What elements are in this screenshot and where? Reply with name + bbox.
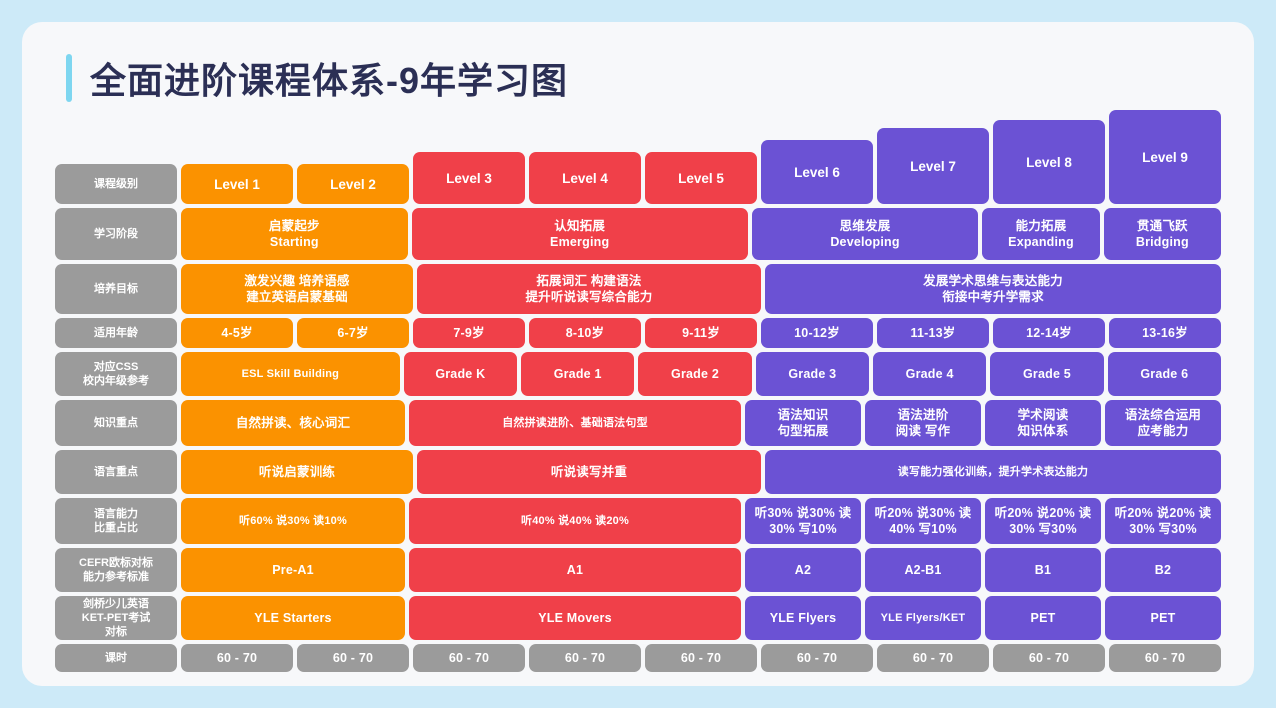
row-label-line: 对标 [105, 625, 127, 639]
row-label-level-header: 课程级别 [55, 164, 177, 204]
cell-knowledge-5[interactable]: 学术阅读知识体系 [985, 400, 1101, 446]
cell-goal-1[interactable]: 激发兴趣 培养语感建立英语启蒙基础 [181, 264, 413, 314]
cell-skill-ratio-3[interactable]: 听30% 说30% 读30% 写10% [745, 498, 861, 544]
cell-line-1: YLE Starters [254, 610, 331, 626]
cell-line-1: 12-14岁 [1026, 325, 1072, 341]
row-label-line: 学习阶段 [94, 227, 138, 241]
cell-line-1: 9-11岁 [682, 325, 720, 341]
cell-line-1: 认知拓展 [554, 218, 605, 234]
cell-line-1: YLE Flyers/KET [881, 611, 966, 625]
cell-line-2: 阅读 写作 [896, 423, 950, 439]
cell-cefr-3[interactable]: A2 [745, 548, 861, 592]
cell-line-1: 60 - 70 [1145, 650, 1185, 666]
cell-skill-ratio-1[interactable]: 听60% 说30% 读10% [181, 498, 405, 544]
row-label-line: 语言能力 [94, 507, 138, 521]
cell-line-1: A2-B1 [904, 562, 941, 578]
cell-line-1: 60 - 70 [681, 650, 721, 666]
cell-knowledge-6[interactable]: 语法综合运用应考能力 [1105, 400, 1221, 446]
cell-stage-5[interactable]: 贯通飞跃Bridging [1104, 208, 1221, 260]
cell-line-2: 30% 写30% [1129, 521, 1197, 537]
cell-exam-5[interactable]: PET [985, 596, 1101, 640]
row-label-language: 语言重点 [55, 450, 177, 494]
level-header-1[interactable]: Level 1 [181, 164, 293, 204]
row-label-line: CEFR欧标对标 [79, 556, 153, 570]
cell-line-1: 自然拼读进阶、基础语法句型 [502, 416, 648, 430]
cell-knowledge-1[interactable]: 自然拼读、核心词汇 [181, 400, 405, 446]
cell-line-1: 学术阅读 [1018, 407, 1069, 423]
cell-stage-2[interactable]: 认知拓展Emerging [412, 208, 748, 260]
cell-line-1: 听40% 说40% 读20% [521, 514, 629, 528]
cell-grade-2[interactable]: Grade K [404, 352, 517, 396]
cell-line-2: 应考能力 [1138, 423, 1189, 439]
level-header-label: Level 2 [330, 177, 376, 192]
row-label-line: 校内年级参考 [83, 374, 149, 388]
level-header-3[interactable]: Level 3 [413, 152, 525, 204]
table-row-hours: 课时60 - 7060 - 7060 - 7060 - 7060 - 7060 … [55, 644, 1221, 672]
level-header-2[interactable]: Level 2 [297, 164, 409, 204]
cell-age-4[interactable]: 8-10岁 [529, 318, 641, 348]
cell-skill-ratio-6[interactable]: 听20% 说20% 读30% 写30% [1105, 498, 1221, 544]
table-row-age: 适用年龄4-5岁6-7岁7-9岁8-10岁9-11岁10-12岁11-13岁12… [55, 318, 1221, 348]
cell-age-5[interactable]: 9-11岁 [645, 318, 757, 348]
curriculum-table: 课程级别 Level 1Level 2Level 3Level 4Level 5… [55, 110, 1221, 676]
table-row-goal: 培养目标激发兴趣 培养语感建立英语启蒙基础拓展词汇 构建语法提升听说读写综合能力… [55, 264, 1221, 314]
cell-goal-3[interactable]: 发展学术思维与表达能力衔接中考升学需求 [765, 264, 1221, 314]
cell-line-1: 4-5岁 [221, 325, 252, 341]
cell-line-2: 建立英语启蒙基础 [246, 289, 348, 305]
cell-line-1: A1 [567, 562, 583, 578]
table-row-exam: 剑桥少儿英语KET-PET考试对标YLE StartersYLE MoversY… [55, 596, 1221, 640]
cell-cefr-1[interactable]: Pre-A1 [181, 548, 405, 592]
cell-line-1: 启蒙起步 [269, 218, 320, 234]
row-label-skill-ratio: 语言能力比重占比 [55, 498, 177, 544]
cell-line-1: 能力拓展 [1016, 218, 1067, 234]
cell-line-1: Pre-A1 [272, 562, 314, 578]
row-label-age: 适用年龄 [55, 318, 177, 348]
cell-stage-3[interactable]: 思维发展Developing [752, 208, 979, 260]
cell-hours-4[interactable]: 60 - 70 [529, 644, 641, 672]
cell-line-1: 13-16岁 [1142, 325, 1188, 341]
cell-line-1: 激发兴趣 培养语感 [244, 273, 349, 289]
cell-age-2[interactable]: 6-7岁 [297, 318, 409, 348]
level-header-9[interactable]: Level 9 [1109, 110, 1221, 204]
row-label-line: 比重占比 [94, 521, 138, 535]
row-label-goal: 培养目标 [55, 264, 177, 314]
cell-line-2: Developing [830, 234, 899, 250]
row-label-line: 语言重点 [94, 465, 138, 479]
cell-line-1: YLE Flyers [770, 610, 837, 626]
cell-hours-5[interactable]: 60 - 70 [645, 644, 757, 672]
cell-goal-2[interactable]: 拓展词汇 构建语法提升听说读写综合能力 [417, 264, 761, 314]
level-header-row: 课程级别 Level 1Level 2Level 3Level 4Level 5… [55, 110, 1221, 204]
row-label-line: 培养目标 [94, 282, 138, 296]
cell-line-1: 自然拼读、核心词汇 [236, 415, 350, 431]
cell-skill-ratio-2[interactable]: 听40% 说40% 读20% [409, 498, 741, 544]
table-body: 学习阶段启蒙起步Starting认知拓展Emerging思维发展Developi… [55, 208, 1221, 672]
cell-knowledge-2[interactable]: 自然拼读进阶、基础语法句型 [409, 400, 741, 446]
cell-line-1: 60 - 70 [565, 650, 605, 666]
cell-line-1: 60 - 70 [449, 650, 489, 666]
cell-line-1: 语法进阶 [898, 407, 949, 423]
cell-line-1: 读写能力强化训练，提升学术表达能力 [898, 465, 1088, 479]
cell-line-2: Starting [270, 234, 319, 250]
cell-line-2: 40% 写10% [889, 521, 957, 537]
cell-line-1: 60 - 70 [797, 650, 837, 666]
level-header-label: Level 8 [1026, 155, 1072, 170]
cell-line-1: 60 - 70 [1029, 650, 1069, 666]
cell-line-1: 10-12岁 [794, 325, 840, 341]
cell-line-1: Grade K [435, 366, 485, 382]
cell-grade-1[interactable]: ESL Skill Building [181, 352, 400, 396]
row-label-line: 对应CSS [94, 360, 139, 374]
level-header-7[interactable]: Level 7 [877, 128, 989, 204]
cell-language-2[interactable]: 听说读写并重 [417, 450, 761, 494]
cell-line-2: Emerging [550, 234, 609, 250]
level-header-cells: Level 1Level 2Level 3Level 4Level 5Level… [181, 110, 1221, 204]
cell-age-1[interactable]: 4-5岁 [181, 318, 293, 348]
cell-exam-6[interactable]: PET [1105, 596, 1221, 640]
cell-line-2: 30% 写10% [769, 521, 837, 537]
cell-line-1: 60 - 70 [333, 650, 373, 666]
cell-line-2: 句型拓展 [778, 423, 829, 439]
cell-hours-3[interactable]: 60 - 70 [413, 644, 525, 672]
cell-line-2: Bridging [1136, 234, 1189, 250]
page-title: 全面进阶课程体系-9年学习图 [66, 52, 568, 104]
row-label-line: 知识重点 [94, 416, 138, 430]
cell-language-3[interactable]: 读写能力强化训练，提升学术表达能力 [765, 450, 1221, 494]
cell-hours-1[interactable]: 60 - 70 [181, 644, 293, 672]
level-header-label: Level 5 [678, 171, 724, 186]
row-label-line: KET-PET考试 [82, 611, 150, 625]
row-label-line: 适用年龄 [94, 326, 138, 340]
cell-stage-4[interactable]: 能力拓展Expanding [982, 208, 1099, 260]
cell-cefr-5[interactable]: B1 [985, 548, 1101, 592]
cell-line-2: 30% 写30% [1009, 521, 1077, 537]
cell-exam-3[interactable]: YLE Flyers [745, 596, 861, 640]
cell-hours-6[interactable]: 60 - 70 [761, 644, 873, 672]
row-label-line: 课时 [105, 651, 127, 665]
row-label-line: 能力参考标准 [83, 570, 149, 584]
cell-line-1: 听20% 说20% 读 [995, 505, 1092, 521]
cell-grade-7[interactable]: Grade 5 [990, 352, 1103, 396]
row-label-exam: 剑桥少儿英语KET-PET考试对标 [55, 596, 177, 640]
title-accent-bar [66, 54, 72, 102]
row-label-stage: 学习阶段 [55, 208, 177, 260]
cell-cefr-4[interactable]: A2-B1 [865, 548, 981, 592]
row-label-knowledge: 知识重点 [55, 400, 177, 446]
cell-line-1: A2 [795, 562, 811, 578]
cell-line-1: Grade 1 [554, 366, 602, 382]
cell-line-1: 语法综合运用 [1125, 407, 1201, 423]
cell-grade-8[interactable]: Grade 6 [1108, 352, 1221, 396]
cell-stage-1[interactable]: 启蒙起步Starting [181, 208, 408, 260]
table-row-skill-ratio: 语言能力比重占比听60% 说30% 读10%听40% 说40% 读20%听30%… [55, 498, 1221, 544]
slide-card: 全面进阶课程体系-9年学习图 课程级别 Level 1Level 2Level … [22, 22, 1254, 686]
cell-skill-ratio-4[interactable]: 听20% 说30% 读40% 写10% [865, 498, 981, 544]
cell-line-1: Grade 4 [906, 366, 954, 382]
cell-line-1: PET [1031, 610, 1056, 626]
table-row-language: 语言重点听说启蒙训练听说读写并重读写能力强化训练，提升学术表达能力 [55, 450, 1221, 494]
cell-grade-6[interactable]: Grade 4 [873, 352, 986, 396]
cell-line-1: B1 [1035, 562, 1051, 578]
cell-line-1: 6-7岁 [337, 325, 368, 341]
cell-age-8[interactable]: 12-14岁 [993, 318, 1105, 348]
cell-line-1: 听20% 说20% 读 [1115, 505, 1212, 521]
page-title-text: 全面进阶课程体系-9年学习图 [90, 52, 568, 104]
cell-line-1: Grade 6 [1140, 366, 1188, 382]
level-header-label: Level 3 [446, 171, 492, 186]
cell-line-1: Grade 5 [1023, 366, 1071, 382]
table-row-stage: 学习阶段启蒙起步Starting认知拓展Emerging思维发展Developi… [55, 208, 1221, 260]
cell-line-1: 60 - 70 [913, 650, 953, 666]
level-header-5[interactable]: Level 5 [645, 152, 757, 204]
cell-cefr-6[interactable]: B2 [1105, 548, 1221, 592]
cell-line-1: B2 [1155, 562, 1171, 578]
level-header-label: Level 7 [910, 159, 956, 174]
table-row-knowledge: 知识重点自然拼读、核心词汇自然拼读进阶、基础语法句型语法知识句型拓展语法进阶阅读… [55, 400, 1221, 446]
table-row-grade: 对应CSS校内年级参考ESL Skill BuildingGrade KGrad… [55, 352, 1221, 396]
row-label-line: 剑桥少儿英语 [83, 597, 149, 611]
level-header-6[interactable]: Level 6 [761, 140, 873, 204]
cell-line-1: 听60% 说30% 读10% [239, 514, 347, 528]
cell-exam-4[interactable]: YLE Flyers/KET [865, 596, 981, 640]
row-label-hours: 课时 [55, 644, 177, 672]
cell-line-2: 衔接中考升学需求 [942, 289, 1044, 305]
level-header-label-spacer: 课程级别 [55, 164, 177, 204]
cell-age-7[interactable]: 11-13岁 [877, 318, 989, 348]
row-label-grade: 对应CSS校内年级参考 [55, 352, 177, 396]
cell-exam-1[interactable]: YLE Starters [181, 596, 405, 640]
cell-line-2: 知识体系 [1018, 423, 1069, 439]
cell-hours-2[interactable]: 60 - 70 [297, 644, 409, 672]
cell-line-1: 听说读写并重 [551, 464, 627, 480]
cell-grade-4[interactable]: Grade 2 [638, 352, 751, 396]
cell-line-1: Grade 2 [671, 366, 719, 382]
cell-line-1: 语法知识 [778, 407, 829, 423]
level-header-4[interactable]: Level 4 [529, 152, 641, 204]
cell-hours-7[interactable]: 60 - 70 [877, 644, 989, 672]
cell-line-1: 11-13岁 [911, 325, 956, 341]
cell-hours-8[interactable]: 60 - 70 [993, 644, 1105, 672]
cell-grade-3[interactable]: Grade 1 [521, 352, 634, 396]
cell-age-3[interactable]: 7-9岁 [413, 318, 525, 348]
cell-line-1: 60 - 70 [217, 650, 257, 666]
cell-exam-2[interactable]: YLE Movers [409, 596, 741, 640]
cell-line-1: 听20% 说30% 读 [875, 505, 972, 521]
level-header-label: Level 4 [562, 171, 608, 186]
cell-line-1: 发展学术思维与表达能力 [923, 273, 1063, 289]
cell-knowledge-4[interactable]: 语法进阶阅读 写作 [865, 400, 981, 446]
level-header-8[interactable]: Level 8 [993, 120, 1105, 204]
cell-line-1: Grade 3 [788, 366, 836, 382]
cell-line-1: 听说启蒙训练 [259, 464, 335, 480]
cell-line-1: 贯通飞跃 [1137, 218, 1188, 234]
cell-line-1: 拓展词汇 构建语法 [536, 273, 641, 289]
cell-line-1: 7-9岁 [453, 325, 484, 341]
cell-grade-5[interactable]: Grade 3 [756, 352, 869, 396]
cell-hours-9[interactable]: 60 - 70 [1109, 644, 1221, 672]
level-header-label: Level 6 [794, 165, 840, 180]
cell-line-1: 8-10岁 [566, 325, 605, 341]
level-header-label: Level 9 [1142, 150, 1188, 165]
cell-knowledge-3[interactable]: 语法知识句型拓展 [745, 400, 861, 446]
cell-line-1: 听30% 说30% 读 [755, 505, 852, 521]
cell-line-1: YLE Movers [538, 610, 612, 626]
cell-line-1: PET [1151, 610, 1176, 626]
level-header-label: Level 1 [214, 177, 260, 192]
cell-line-1: ESL Skill Building [242, 367, 340, 381]
cell-skill-ratio-5[interactable]: 听20% 说20% 读30% 写30% [985, 498, 1101, 544]
table-row-cefr: CEFR欧标对标能力参考标准Pre-A1A1A2A2-B1B1B2 [55, 548, 1221, 592]
cell-line-2: Expanding [1008, 234, 1074, 250]
cell-cefr-2[interactable]: A1 [409, 548, 741, 592]
cell-age-6[interactable]: 10-12岁 [761, 318, 873, 348]
cell-language-1[interactable]: 听说启蒙训练 [181, 450, 413, 494]
row-label-cefr: CEFR欧标对标能力参考标准 [55, 548, 177, 592]
cell-line-1: 思维发展 [840, 218, 891, 234]
cell-line-2: 提升听说读写综合能力 [525, 289, 652, 305]
cell-age-9[interactable]: 13-16岁 [1109, 318, 1221, 348]
